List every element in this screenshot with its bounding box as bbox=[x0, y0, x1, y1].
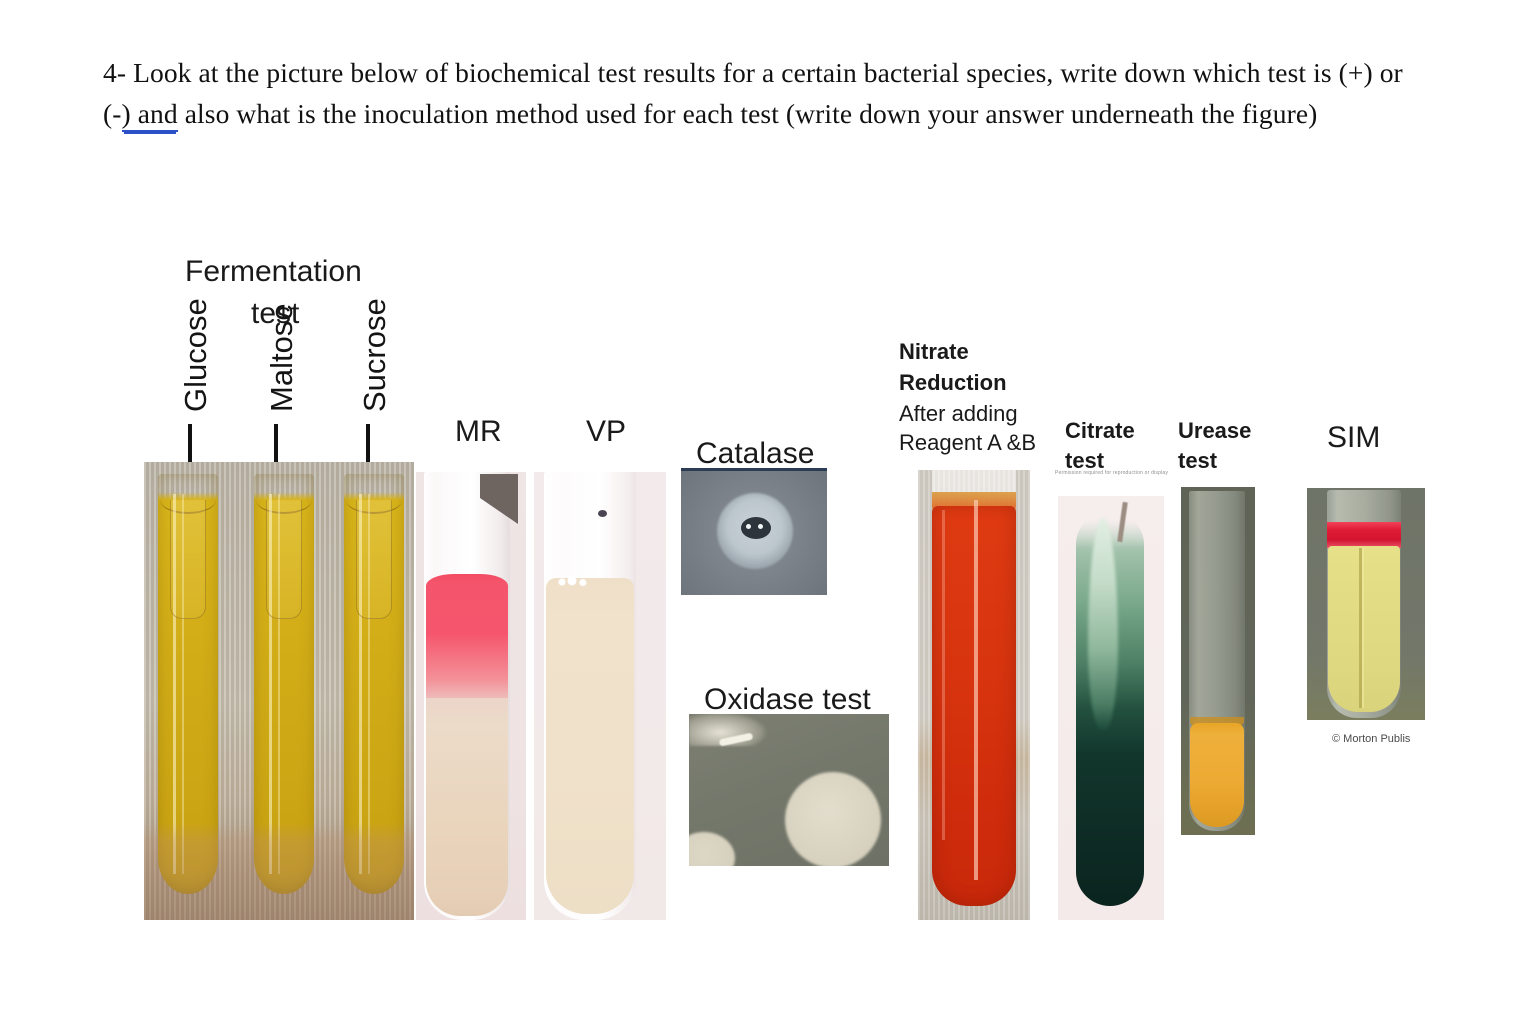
vp-broth-layer bbox=[546, 578, 634, 914]
urease-tube-photo bbox=[1181, 487, 1255, 835]
label-mr: MR bbox=[455, 415, 502, 449]
oxidase-colony-small bbox=[689, 832, 735, 866]
label-catalase: Catalase bbox=[696, 437, 814, 471]
nitrate-tube-photo bbox=[918, 470, 1030, 920]
label-citrate-line1: Citrate bbox=[1065, 418, 1135, 444]
sim-stab-highlight bbox=[1362, 548, 1364, 708]
mr-broth-layer bbox=[426, 698, 508, 916]
catalase-photo bbox=[681, 468, 827, 595]
label-sucrose: Sucrose bbox=[357, 298, 393, 412]
label-nitrate-line3: After adding bbox=[899, 401, 1018, 427]
sim-agar bbox=[1328, 546, 1400, 712]
biochemical-tests-figure: Fermentation test Glucose Maltose Sucros… bbox=[0, 0, 1540, 1012]
label-nitrate-line4: Reagent A &B bbox=[899, 430, 1036, 456]
fermentation-title-line1: Fermentation bbox=[185, 255, 362, 289]
mr-red-layer bbox=[426, 574, 508, 700]
sim-indole-red-band bbox=[1327, 522, 1401, 548]
publisher-credit: © Morton Publis bbox=[1332, 733, 1410, 745]
vp-bubbles bbox=[554, 576, 594, 588]
vp-speck bbox=[598, 510, 607, 517]
label-glucose: Glucose bbox=[178, 298, 214, 412]
vp-tube-photo bbox=[534, 472, 666, 920]
label-maltose: Maltose bbox=[264, 303, 300, 412]
oxidase-photo bbox=[689, 714, 889, 866]
sim-tube-photo bbox=[1307, 488, 1425, 720]
catalase-bubble-core bbox=[741, 517, 771, 539]
rack-shadow bbox=[144, 822, 414, 920]
label-vp: VP bbox=[586, 415, 626, 449]
label-urease-line1: Urease bbox=[1178, 418, 1251, 444]
oxidase-colony-large bbox=[785, 772, 881, 866]
citrate-tube-photo bbox=[1058, 496, 1164, 920]
citrate-fineprint: Permission required for reproduction or … bbox=[1055, 470, 1168, 476]
label-sim: SIM bbox=[1327, 421, 1380, 455]
label-nitrate-line1: Nitrate bbox=[899, 339, 969, 365]
label-nitrate-line2: Reduction bbox=[899, 370, 1007, 396]
mr-tube-photo bbox=[416, 472, 526, 920]
urease-broth bbox=[1190, 723, 1244, 827]
nitrate-highlight-2 bbox=[942, 510, 945, 840]
label-oxidase: Oxidase test bbox=[704, 683, 871, 717]
label-urease-line2: test bbox=[1178, 448, 1217, 474]
nitrate-highlight bbox=[974, 500, 978, 880]
fermentation-tubes-photo bbox=[144, 462, 414, 920]
